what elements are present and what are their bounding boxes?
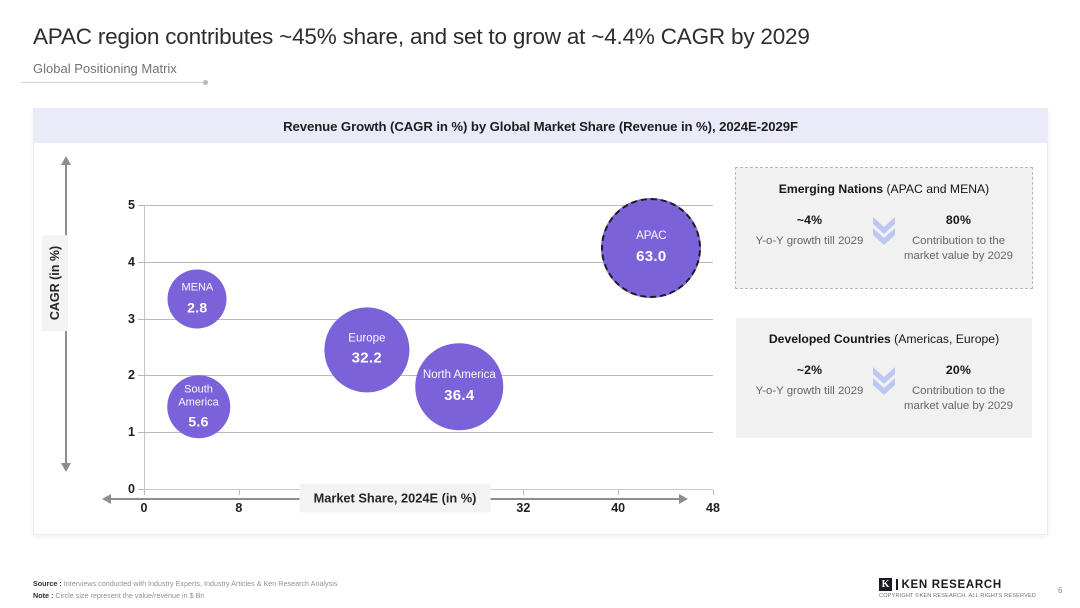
ken-research-logo-icon: K [879,578,892,591]
y-tick-label-0: 0 [128,482,135,496]
card-stat-left: ~4% Y-o-Y growth till 2029 [752,213,867,249]
brand-row: K KEN RESEARCH [879,578,1036,591]
y-tick-mark [138,432,144,433]
card-body: ~4% Y-o-Y growth till 2029 80% Contribut… [752,213,1016,265]
bubble-apac[interactable]: APAC63.0 [601,198,701,298]
y-tick-label-5: 5 [128,198,135,212]
chart-title: Revenue Growth (CAGR in %) by Global Mar… [283,119,798,134]
bubble-label: South America [167,383,231,408]
stat-value: 80% [901,213,1016,227]
y-axis-label: CAGR (in %) [42,235,68,331]
source-line: Source : Interviews conducted with Indus… [33,578,337,590]
x-tick-mark [144,490,145,495]
y-tick-label-3: 3 [128,312,135,326]
x-tick-label-8: 8 [235,501,242,515]
y-axis-line [144,205,145,490]
y-tick-label-1: 1 [128,425,135,439]
brand-name: KEN RESEARCH [902,579,1002,591]
stat-value: 20% [901,363,1016,377]
y-tick-label-2: 2 [128,368,135,382]
brand-divider [896,579,898,590]
y-tick-mark [138,319,144,320]
card-title: Emerging Nations (APAC and MENA) [752,182,1016,196]
card-title-regular: (APAC and MENA) [883,182,989,196]
y-tick-mark [138,205,144,206]
slide: APAC region contributes ~45% share, and … [0,0,1080,608]
x-tick-label-40: 40 [611,501,625,515]
bubble-label: Europe [348,332,385,345]
x-tick-label-0: 0 [141,501,148,515]
page-title: APAC region contributes ~45% share, and … [33,24,810,50]
card-stat-right: 80% Contribution to the market value by … [901,213,1016,265]
note-label: Note : [33,591,53,600]
bubble-europe[interactable]: Europe32.2 [324,307,409,392]
bubble-label: APAC [636,230,666,243]
x-tick-mark [713,490,714,495]
bubble-label: MENA [181,282,213,294]
bubble-chart: 012345081624324048MENA2.8South America5.… [34,143,754,534]
note-line: Note : Circle size represent the value/r… [33,590,337,602]
x-tick-label-48: 48 [706,501,720,515]
bubble-south-america[interactable]: South America5.6 [167,375,231,439]
stat-value: ~4% [752,213,867,227]
bubble-value: 32.2 [352,351,382,368]
plot-area: 012345081624324048MENA2.8South America5.… [144,205,713,489]
subtitle-divider-dot [203,80,208,85]
double-chevron-down-icon [867,363,901,395]
x-axis-label: Market Share, 2024E (in %) [300,484,491,513]
stat-caption: Y-o-Y growth till 2029 [752,234,867,249]
y-tick-mark [138,375,144,376]
subtitle-divider [21,82,205,83]
card-title-bold: Emerging Nations [779,182,883,196]
source-label: Source : [33,579,62,588]
bubble-north-america[interactable]: North America36.4 [416,343,504,431]
card-title-bold: Developed Countries [769,332,891,346]
card-title-regular: (Americas, Europe) [891,332,999,346]
stat-caption: Y-o-Y growth till 2029 [752,384,867,399]
bubble-value: 2.8 [187,300,207,316]
brand-logo: K KEN RESEARCH COPYRIGHT ©KEN RESEARCH. … [879,578,1036,599]
bubble-label: North America [423,369,496,382]
x-tick-mark [239,490,240,495]
card-title: Developed Countries (Americas, Europe) [752,332,1016,346]
page-subtitle: Global Positioning Matrix [33,61,177,76]
y-tick-mark [138,262,144,263]
gridline-y-3 [144,319,713,320]
card-stat-left: ~2% Y-o-Y growth till 2029 [752,363,867,399]
x-tick-label-32: 32 [516,501,530,515]
bubble-mena[interactable]: MENA2.8 [168,269,227,328]
card-developed-countries: Developed Countries (Americas, Europe) ~… [736,318,1032,438]
x-tick-mark [523,490,524,495]
footer-notes: Source : Interviews conducted with Indus… [33,578,337,602]
copyright-text: COPYRIGHT ©KEN RESEARCH. ALL RIGHTS RESE… [879,593,1036,599]
bubble-value: 5.6 [188,414,208,430]
chart-panel-header: Revenue Growth (CAGR in %) by Global Mar… [34,109,1047,143]
x-tick-mark [618,490,619,495]
note-text: Circle size represent the value/revenue … [55,591,204,600]
card-emerging-nations: Emerging Nations (APAC and MENA) ~4% Y-o… [736,168,1032,288]
card-body: ~2% Y-o-Y growth till 2029 20% Contribut… [752,363,1016,415]
page-number: 6 [1058,586,1062,595]
card-stat-right: 20% Contribution to the market value by … [901,363,1016,415]
bubble-value: 36.4 [444,388,474,405]
y-tick-label-4: 4 [128,255,135,269]
stat-caption: Contribution to the market value by 2029 [901,234,1016,265]
stat-value: ~2% [752,363,867,377]
gridline-y-1 [144,432,713,433]
source-text: Interviews conducted with Industry Exper… [64,579,338,588]
double-chevron-down-icon [867,213,901,245]
stat-caption: Contribution to the market value by 2029 [901,384,1016,415]
bubble-value: 63.0 [636,249,666,266]
